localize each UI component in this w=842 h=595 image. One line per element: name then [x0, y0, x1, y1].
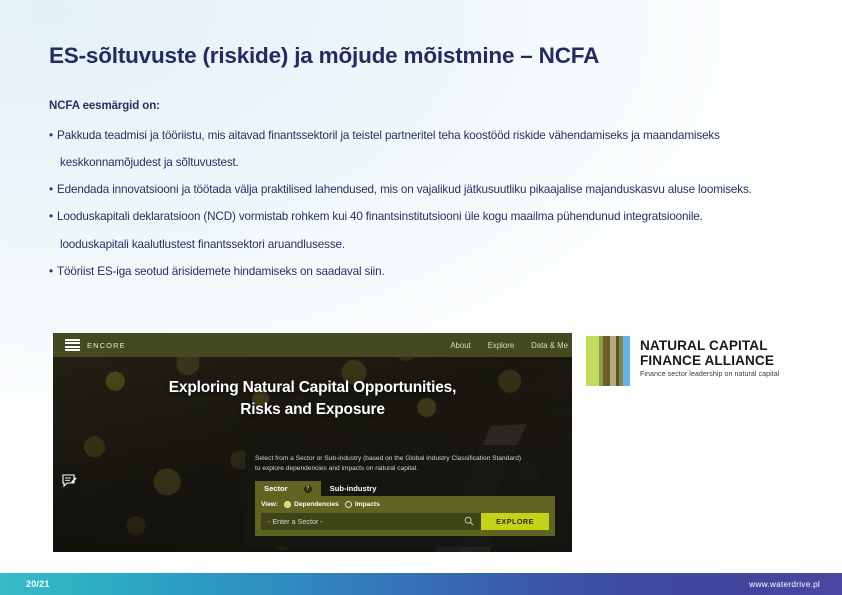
bullet-item: •Pakkuda teadmisi ja tööriistu, mis aita…	[49, 128, 809, 144]
slide-canvas: ES-sõltuvuste (riskide) ja mõjude mõistm…	[0, 0, 842, 595]
bullet-item: •Tööriist ES-iga seotud ärisidemete hind…	[49, 264, 809, 280]
radio-knob-icon	[284, 501, 291, 508]
bullet-text: Tööriist ES-iga seotud ärisidemete hinda…	[57, 265, 385, 278]
view-label: View:	[261, 501, 278, 508]
ncfa-line-2: FINANCE ALLIANCE	[640, 353, 779, 368]
sector-search-input[interactable]: - Enter a Sector -	[261, 513, 481, 530]
bullet-item-continuation: looduskapitali kaalutlustest finantssekt…	[49, 237, 809, 253]
tab-sector[interactable]: Sector ?	[255, 481, 321, 496]
tab-sub-industry-label: Sub-industry	[330, 484, 377, 493]
feedback-comment-icon[interactable]	[56, 469, 82, 492]
lead-paragraph: NCFA eesmärgid on:	[49, 100, 809, 112]
radio-dependencies-label: Dependencies	[294, 501, 339, 508]
bullet-marker: •	[49, 264, 57, 280]
ncfa-logo: NATURAL CAPITAL FINANCE ALLIANCE Finance…	[586, 336, 786, 386]
bullet-item: •Edendada innovatsiooni ja töötada välja…	[49, 182, 809, 198]
help-question-icon[interactable]: ?	[304, 485, 312, 493]
nav-item-data-and-methodology[interactable]: Data & Me	[531, 341, 568, 350]
logo-bar	[586, 336, 599, 386]
encore-website-screenshot: ENCORE About Explore Data & Me Exploring…	[53, 333, 572, 552]
logo-bar	[623, 336, 630, 386]
radio-impacts-label: Impacts	[355, 501, 380, 508]
hamburger-menu-icon[interactable]	[65, 339, 80, 351]
panel-description-line-1: Select from a Sector or Sub-industry (ba…	[255, 454, 555, 464]
bullet-marker: •	[49, 182, 57, 198]
panel-body: View: Dependencies Impacts - Enter a Sec…	[255, 496, 555, 536]
slide-footer: 20/21 www.waterdrive.pl	[0, 573, 842, 595]
radio-knob-icon	[345, 501, 352, 508]
encore-brand-label: ENCORE	[87, 341, 126, 350]
sector-input-placeholder: - Enter a Sector -	[268, 517, 323, 526]
bullet-text: Pakkuda teadmisi ja tööriistu, mis aitav…	[57, 129, 720, 142]
hero-line-2: Risks and Exposure	[53, 399, 572, 421]
nav-item-about[interactable]: About	[450, 341, 470, 350]
bullet-text: looduskapitali kaalutlustest finantssekt…	[60, 238, 345, 251]
bullet-marker: •	[49, 128, 57, 144]
panel-description-line-2: to explore dependencies and impacts on n…	[255, 464, 555, 474]
search-glyph	[464, 516, 474, 526]
search-magnifier-icon[interactable]	[464, 516, 474, 528]
radio-impacts[interactable]: Impacts	[345, 501, 380, 508]
panel-tab-row: Sector ? Sub-industry	[255, 481, 555, 496]
encore-nav: About Explore Data & Me	[450, 341, 572, 350]
tab-sector-label: Sector	[264, 484, 288, 493]
logo-bar	[603, 336, 610, 386]
sector-selector-panel: Select from a Sector or Sub-industry (ba…	[245, 445, 565, 547]
view-mode-row: View: Dependencies Impacts	[261, 501, 549, 508]
body-content: NCFA eesmärgid on: •Pakkuda teadmisi ja …	[49, 100, 809, 291]
hero-line-1: Exploring Natural Capital Opportunities,	[53, 377, 572, 399]
panel-description: Select from a Sector or Sub-industry (ba…	[255, 454, 555, 473]
bullet-text: keskkonnamõjudest ja sõltuvustest.	[60, 156, 239, 169]
bullet-text: Edendada innovatsiooni ja töötada välja …	[57, 183, 752, 196]
ncfa-logo-text: NATURAL CAPITAL FINANCE ALLIANCE Finance…	[640, 336, 779, 378]
encore-site-header: ENCORE About Explore Data & Me	[53, 333, 572, 357]
radio-dependencies[interactable]: Dependencies	[284, 501, 339, 508]
tab-sub-industry[interactable]: Sub-industry	[321, 481, 386, 496]
ncfa-color-bars-icon	[586, 336, 630, 386]
nav-item-explore[interactable]: Explore	[488, 341, 514, 350]
footer-website-url[interactable]: www.waterdrive.pl	[749, 579, 820, 589]
bullet-item-continuation: keskkonnamõjudest ja sõltuvustest.	[49, 155, 809, 171]
feedback-glyph	[62, 474, 77, 487]
bullet-marker: •	[49, 209, 57, 225]
ncfa-tagline: Finance sector leadership on natural cap…	[640, 370, 779, 378]
page-number: 20/21	[26, 579, 50, 589]
explore-button[interactable]: EXPLORE	[481, 513, 549, 530]
ncfa-line-1: NATURAL CAPITAL	[640, 338, 779, 353]
sector-search-row: - Enter a Sector - EXPLORE	[261, 513, 549, 530]
bullet-text: Looduskapitali deklaratsioon (NCD) vormi…	[57, 210, 703, 223]
bullet-item: •Looduskapitali deklaratsioon (NCD) vorm…	[49, 209, 809, 225]
encore-hero-heading: Exploring Natural Capital Opportunities,…	[53, 377, 572, 421]
page-title: ES-sõltuvuste (riskide) ja mõjude mõistm…	[49, 43, 599, 69]
